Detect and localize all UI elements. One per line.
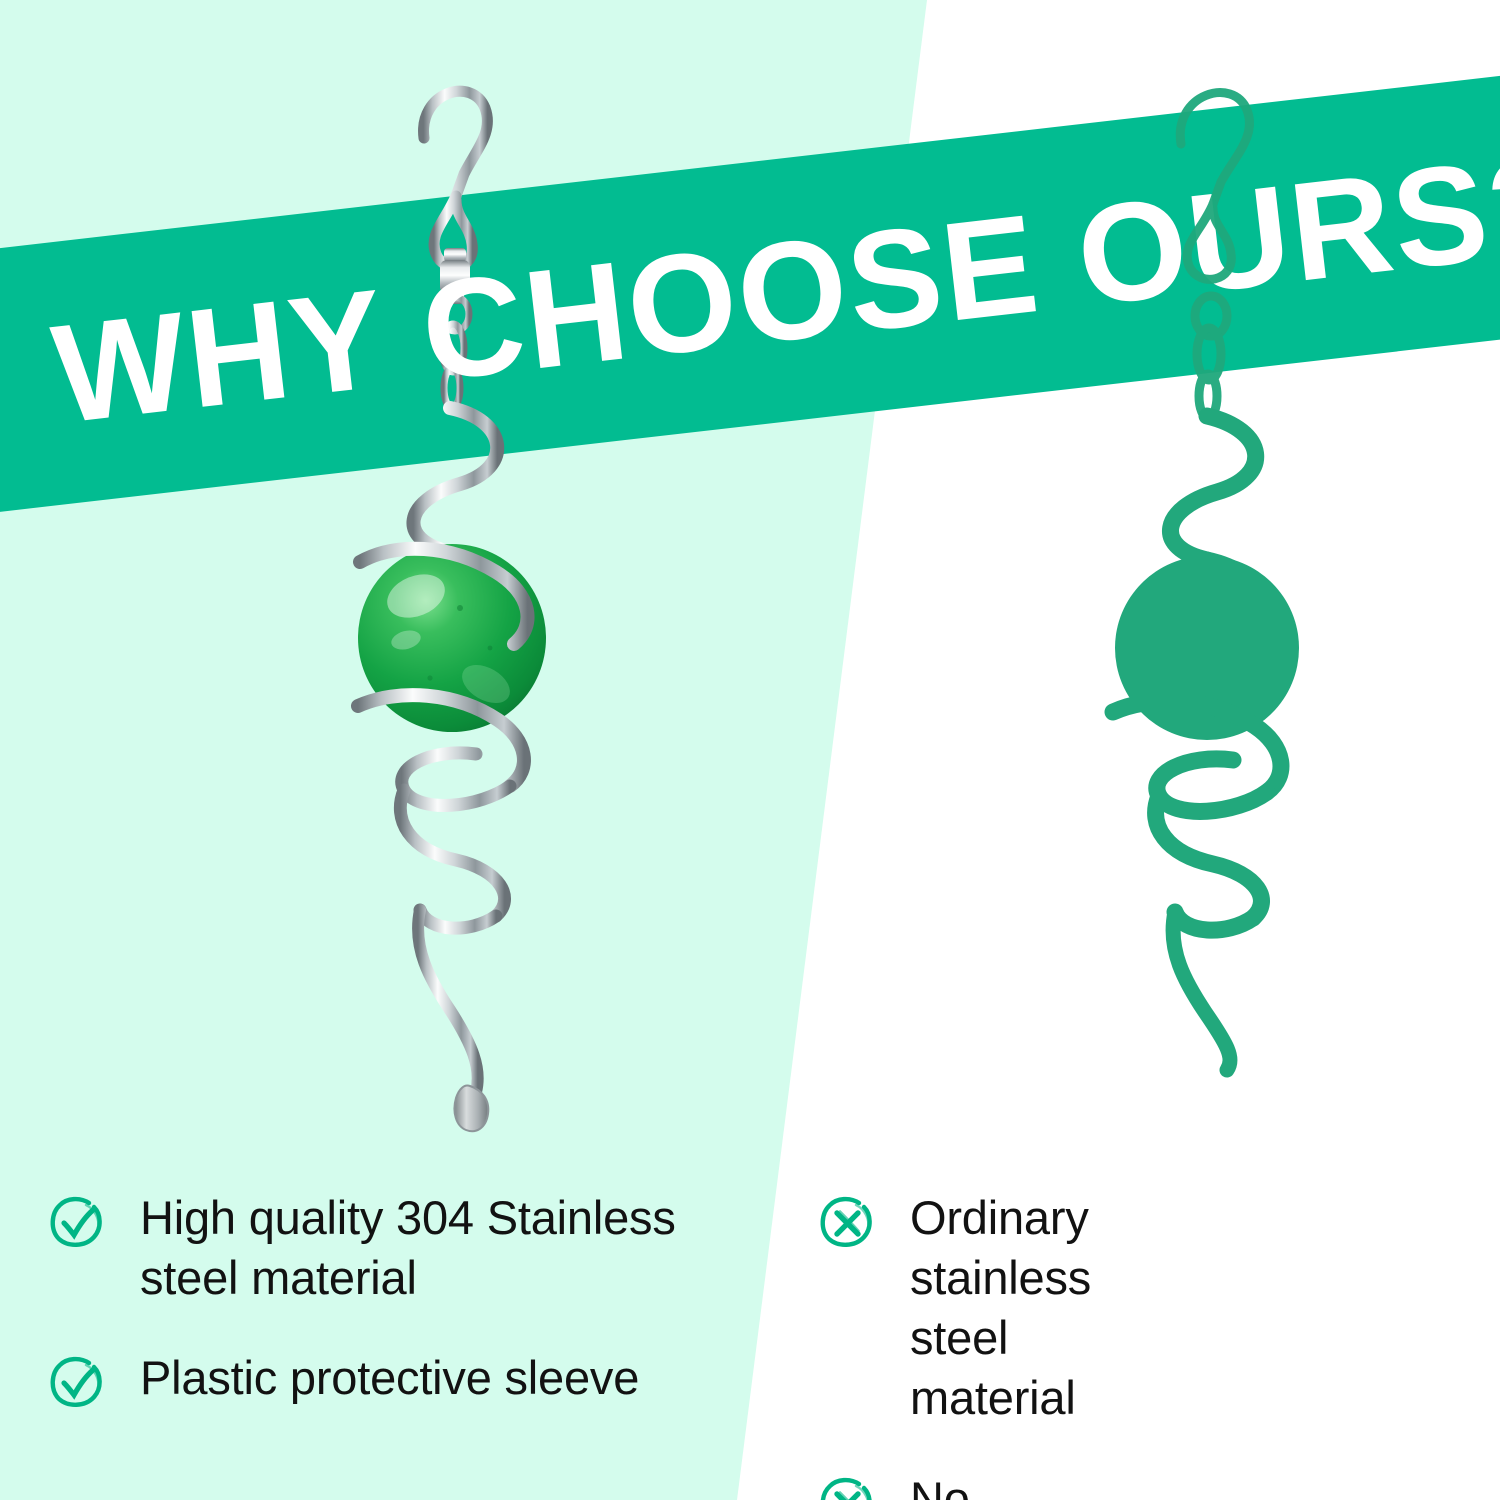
product-image-ordinary [1055, 48, 1385, 1098]
list-item-label: No Plastic protective sleeve [910, 1469, 1112, 1500]
product-image-premium [300, 48, 630, 1148]
s-hook [424, 91, 488, 266]
tail-wire [418, 910, 478, 1092]
infographic-canvas: WHY CHOOSE OURS? High quality 304 Stainl… [0, 0, 1500, 1500]
hook-chain [441, 297, 469, 408]
silhouette-hook-outline [1180, 93, 1249, 418]
cons-column: Ordinary stainless steel material No Pla… [0, 1188, 832, 1500]
comparison-lists: High quality 304 Stainless steel materia… [0, 1188, 1500, 1500]
x-circle-icon [818, 1194, 876, 1252]
x-circle-icon [818, 1475, 876, 1500]
plastic-protective-sleeve [454, 1086, 488, 1132]
lower-spiral [400, 753, 510, 928]
list-item-label: Ordinary stainless steel material [910, 1188, 1091, 1429]
